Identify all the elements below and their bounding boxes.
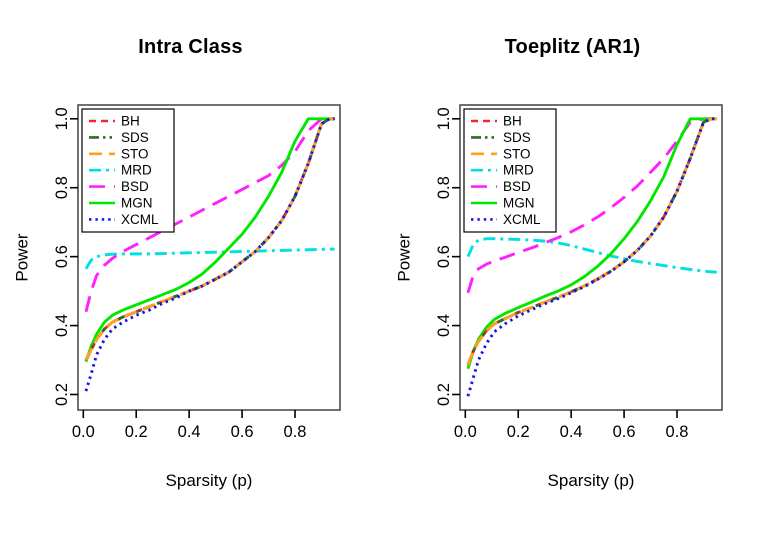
- y-axis-tick-label: 1.0: [53, 107, 71, 130]
- chart-panel-intra-class: Intra Class 0.00.20.40.60.80.20.40.60.81…: [0, 0, 381, 545]
- plot-svg-toeplitz-ar1: 0.00.20.40.60.80.20.40.60.81.0Sparsity (…: [382, 0, 763, 545]
- y-axis-tick-label: 0.2: [53, 383, 71, 406]
- legend-label-sds: SDS: [121, 130, 149, 145]
- y-axis-tick-label: 0.4: [435, 314, 453, 337]
- legend-label-mrd: MRD: [503, 163, 534, 178]
- x-axis-title: Sparsity (p): [166, 471, 253, 490]
- x-axis-title: Sparsity (p): [548, 471, 635, 490]
- legend-label-bh: BH: [503, 114, 522, 129]
- figure-root: Intra Class 0.00.20.40.60.80.20.40.60.81…: [0, 0, 763, 545]
- legend-label-mgn: MGN: [503, 196, 535, 211]
- y-axis-title: Power: [13, 233, 32, 282]
- y-axis-tick-label: 0.4: [53, 314, 71, 337]
- legend-label-bsd: BSD: [121, 179, 149, 194]
- y-axis-tick-label: 0.8: [53, 176, 71, 199]
- y-axis-tick-label: 1.0: [435, 107, 453, 130]
- y-axis-tick-label: 0.8: [435, 176, 453, 199]
- legend-label-mrd: MRD: [121, 163, 152, 178]
- x-axis-tick-label: 0.2: [125, 423, 148, 441]
- legend-label-bh: BH: [121, 114, 140, 129]
- y-axis-tick-label: 0.6: [435, 245, 453, 268]
- x-axis-tick-label: 0.2: [507, 423, 530, 441]
- legend-label-xcml: XCML: [503, 212, 541, 227]
- legend-label-sto: STO: [503, 146, 531, 161]
- x-axis-tick-label: 0.0: [454, 423, 477, 441]
- x-axis-tick-label: 0.0: [72, 423, 95, 441]
- x-axis-tick-label: 0.8: [284, 423, 307, 441]
- legend-label-sds: SDS: [503, 130, 531, 145]
- x-axis-tick-label: 0.4: [178, 423, 201, 441]
- x-axis-tick-label: 0.6: [613, 423, 636, 441]
- legend-label-bsd: BSD: [503, 179, 531, 194]
- series-line-mrd: [468, 239, 717, 272]
- legend-label-sto: STO: [121, 146, 149, 161]
- legend-label-mgn: MGN: [121, 196, 153, 211]
- chart-panel-toeplitz-ar1: Toeplitz (AR1) 0.00.20.40.60.80.20.40.60…: [382, 0, 763, 545]
- legend-label-xcml: XCML: [121, 212, 159, 227]
- x-axis-tick-label: 0.6: [231, 423, 254, 441]
- plot-svg-intra-class: 0.00.20.40.60.80.20.40.60.81.0Sparsity (…: [0, 0, 381, 545]
- x-axis-tick-label: 0.4: [560, 423, 583, 441]
- x-axis-tick-label: 0.8: [666, 423, 689, 441]
- y-axis-title: Power: [395, 233, 414, 282]
- y-axis-tick-label: 0.2: [435, 383, 453, 406]
- y-axis-tick-label: 0.6: [53, 245, 71, 268]
